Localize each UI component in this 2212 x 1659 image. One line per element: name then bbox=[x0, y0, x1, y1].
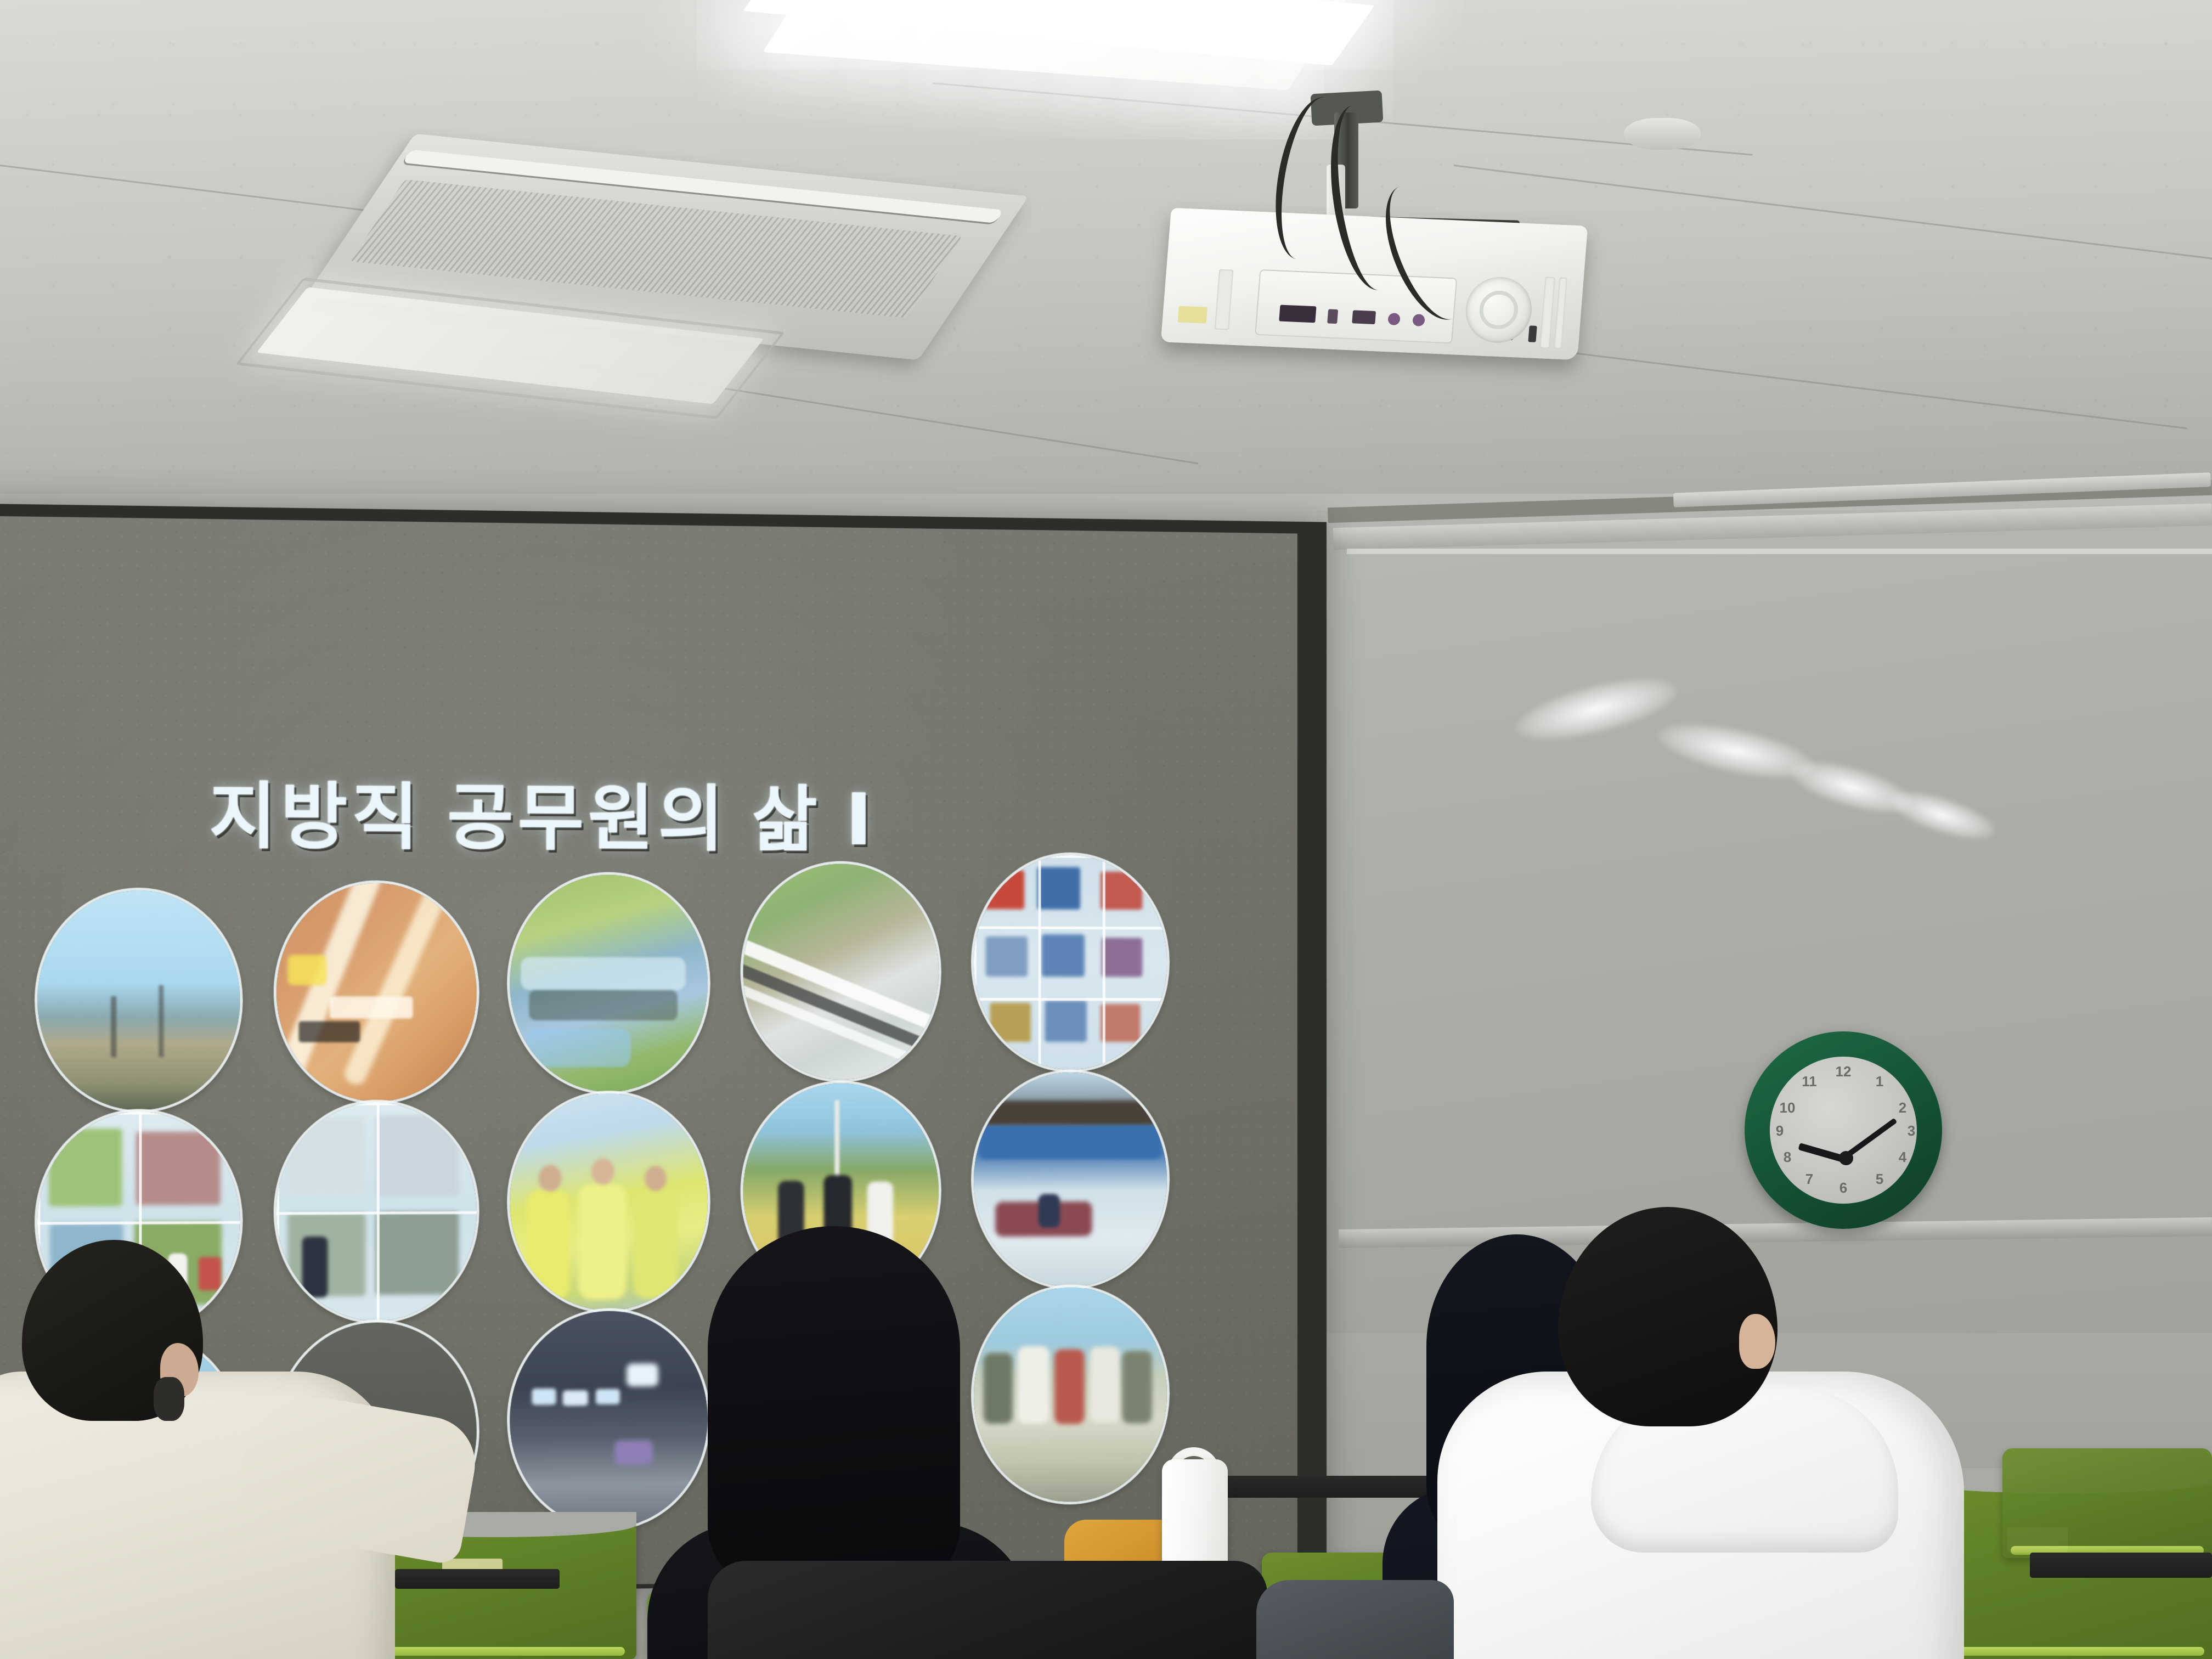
student-right-front-ear bbox=[1739, 1314, 1775, 1369]
photo-circle bbox=[510, 1310, 708, 1529]
projector-port bbox=[1528, 325, 1537, 342]
student-right-front-head bbox=[1558, 1207, 1778, 1426]
clock-numeral: 4 bbox=[1892, 1149, 1914, 1165]
photo-circle bbox=[743, 864, 939, 1080]
clock-numeral: 1 bbox=[1869, 1073, 1891, 1090]
photo-circle bbox=[510, 1093, 708, 1311]
sprinkler-head bbox=[1624, 118, 1701, 150]
photo-road-guardrail bbox=[743, 864, 939, 1080]
photo-collage-grid bbox=[974, 855, 1167, 1070]
student-right-front bbox=[1558, 1207, 2096, 1659]
clock-numeral: 11 bbox=[1798, 1073, 1820, 1090]
student-left-mask-strap bbox=[154, 1377, 184, 1421]
projector-vent-fin bbox=[1215, 269, 1234, 330]
projector-hdmi-port bbox=[1352, 310, 1376, 324]
photo-circle bbox=[510, 874, 708, 1092]
photo-yellow-vest-workers bbox=[510, 1093, 708, 1311]
student-center-hair bbox=[708, 1226, 960, 1610]
photo-grid-lines bbox=[974, 855, 1167, 1070]
lecture-hall-photo: 12 1 2 3 4 5 6 7 8 9 10 11 지방직 공무원의 삶 Ⅰ bbox=[0, 0, 2212, 1659]
photo-circle bbox=[276, 883, 477, 1102]
clock-center-pin bbox=[1839, 1151, 1853, 1165]
black-bag bbox=[708, 1561, 1267, 1659]
clock-numeral: 6 bbox=[1832, 1180, 1854, 1196]
slide-title: 지방직 공무원의 삶 Ⅰ bbox=[209, 758, 876, 865]
clock-numeral: 10 bbox=[1776, 1099, 1798, 1116]
clock-numeral: 12 bbox=[1832, 1063, 1854, 1080]
clock-numeral: 7 bbox=[1798, 1171, 1820, 1187]
clock-hour-hand bbox=[1798, 1143, 1844, 1163]
ceiling bbox=[0, 0, 2212, 554]
projector-label bbox=[1178, 306, 1207, 324]
clock-numeral: 9 bbox=[1769, 1122, 1791, 1139]
projector-vent-fin bbox=[1554, 278, 1567, 349]
photo-circle bbox=[974, 855, 1167, 1070]
clock-face: 12 1 2 3 4 5 6 7 8 9 10 11 bbox=[1770, 1057, 1917, 1204]
projector-vent-fin bbox=[1540, 277, 1555, 348]
photo-sky-field bbox=[37, 890, 240, 1110]
student-left bbox=[22, 1240, 472, 1659]
clock-numeral: 2 bbox=[1892, 1099, 1914, 1116]
gray-jacket bbox=[1256, 1580, 1454, 1659]
photo-circle bbox=[37, 890, 240, 1110]
clock-numeral: 5 bbox=[1869, 1171, 1891, 1187]
clock-numeral: 8 bbox=[1776, 1149, 1798, 1165]
photo-night-street bbox=[510, 1310, 708, 1529]
wall-clock: 12 1 2 3 4 5 6 7 8 9 10 11 bbox=[1745, 1031, 1942, 1229]
photo-night-road bbox=[276, 883, 477, 1102]
projector-port bbox=[1327, 309, 1338, 324]
clock-numeral: 3 bbox=[1900, 1122, 1922, 1139]
photo-green-park bbox=[510, 874, 708, 1092]
projector-vga-port bbox=[1279, 305, 1316, 323]
